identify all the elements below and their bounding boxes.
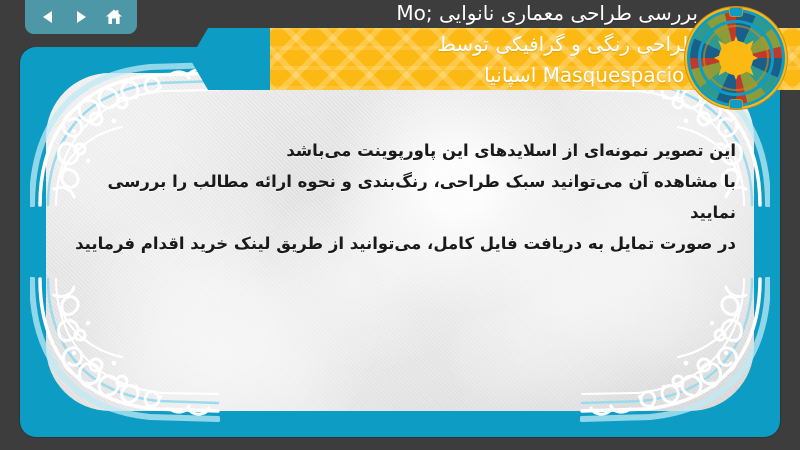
next-slide-button[interactable] xyxy=(70,6,92,28)
chevron-left-icon xyxy=(40,9,56,25)
slide-navigation-bar xyxy=(25,0,137,34)
medallion-tab-top xyxy=(729,7,743,17)
slide-content-card: این تصویر نمونه‌ای از اسلایدهای این پاور… xyxy=(20,47,780,437)
home-button[interactable] xyxy=(103,6,125,28)
eight-point-star-icon xyxy=(714,36,758,80)
previous-slide-button[interactable] xyxy=(37,6,59,28)
medallion-tab-bottom xyxy=(729,99,743,109)
persian-medallion-ornament-icon xyxy=(690,12,782,104)
home-icon xyxy=(105,8,123,26)
slide-inner-panel xyxy=(46,73,754,411)
slide-canvas: این تصویر نمونه‌ای از اسلایدهای این پاور… xyxy=(0,0,800,450)
chevron-right-icon xyxy=(73,9,89,25)
